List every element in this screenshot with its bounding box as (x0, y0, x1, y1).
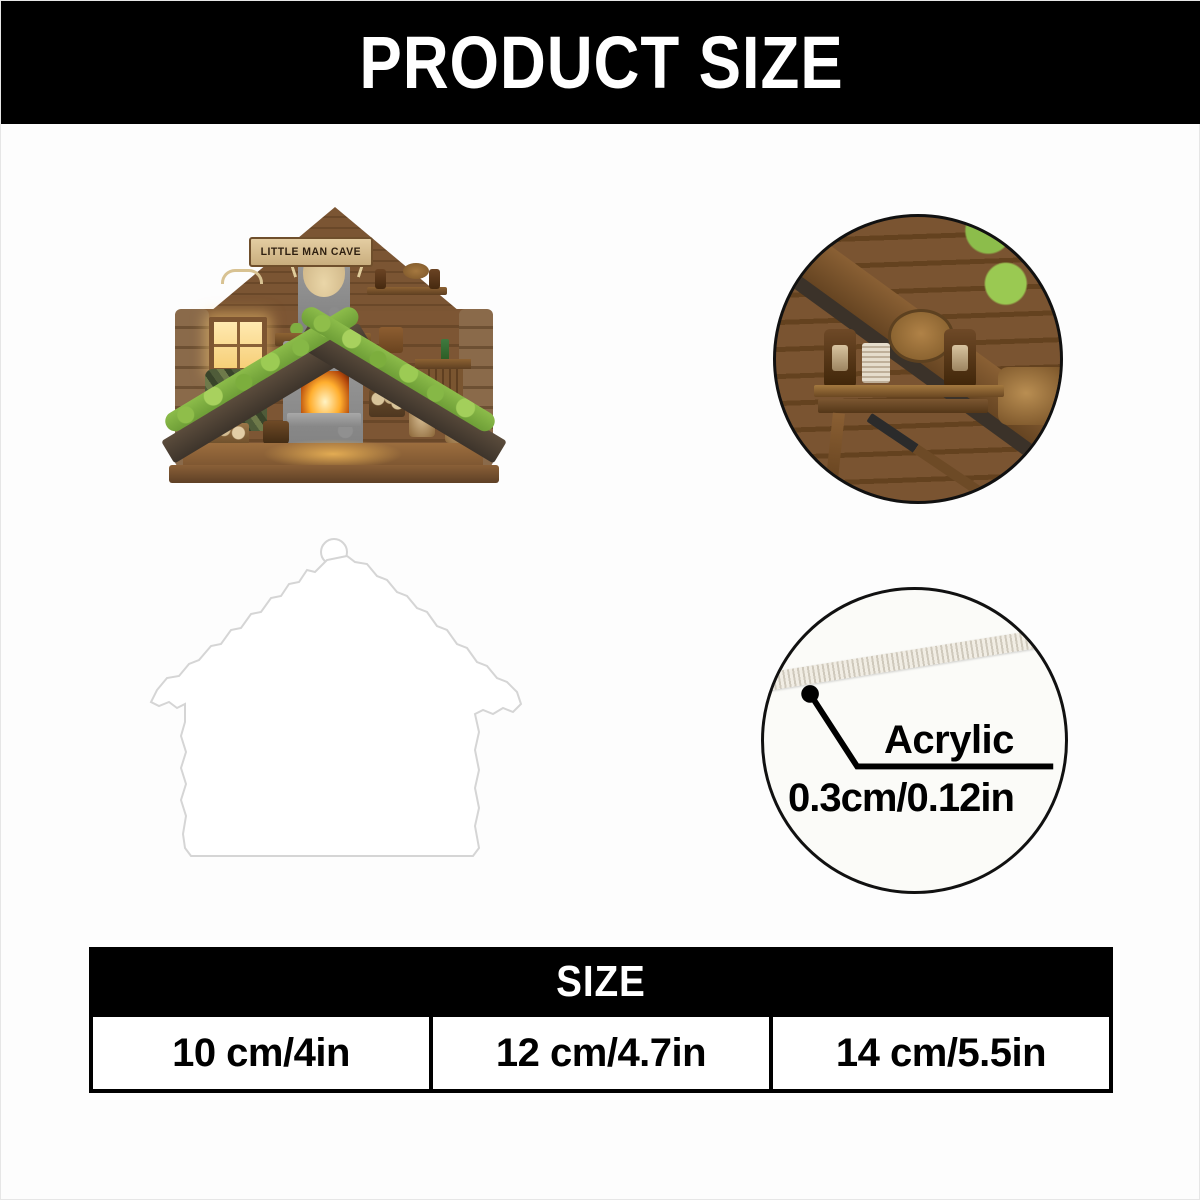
detail-rifle (866, 413, 988, 500)
fireplace-hearth (287, 413, 361, 427)
cabin-sign: LITTLE MAN CAVE (249, 237, 373, 267)
wall-antler-decor (221, 269, 263, 284)
acrylic-material-label: Acrylic (884, 718, 1014, 763)
detail-zoom-circle (773, 214, 1063, 504)
acrylic-thickness-circle: Acrylic 0.3cm/0.12in (761, 587, 1068, 894)
cabin-blank-body (151, 556, 521, 856)
blank-outline-svg (141, 526, 531, 896)
detail-mug (862, 343, 890, 383)
size-table: SIZE 10 cm/4in 12 cm/4.7in 14 cm/5.5in (89, 947, 1113, 1093)
detail-lantern-glass-right (952, 345, 968, 371)
size-cell-medium: 12 cm/4.7in (433, 1017, 773, 1089)
size-cell-large: 14 cm/5.5in (773, 1017, 1113, 1089)
detail-tool-rack (818, 399, 988, 413)
detail-log-end (998, 367, 1063, 425)
detail-lantern-glass-left (832, 345, 848, 371)
cabin-base (169, 465, 499, 483)
detail-leather-strap (823, 413, 845, 504)
lantern-icon (375, 269, 386, 289)
hat-decor (403, 263, 429, 279)
product-photo: LITTLE MAN CAVE (153, 171, 515, 501)
size-cell-small: 10 cm/4in (93, 1017, 433, 1089)
header-bar: PRODUCT SIZE (1, 1, 1200, 124)
size-table-header: SIZE (89, 947, 1113, 1017)
log-cabin-illustration: LITTLE MAN CAVE (153, 171, 515, 501)
acrylic-thickness-label: 0.3cm/0.12in (788, 776, 1014, 821)
cabin-sign-text: LITTLE MAN CAVE (261, 246, 361, 258)
page-title: PRODUCT SIZE (359, 26, 843, 100)
product-size-infographic: PRODUCT SIZE (0, 0, 1200, 1200)
side-table-top (415, 359, 471, 369)
lantern-icon (429, 269, 440, 289)
detail-shelf (814, 385, 1004, 397)
size-table-row: 10 cm/4in 12 cm/4.7in 14 cm/5.5in (89, 1017, 1113, 1093)
acrylic-blank-outline (141, 526, 531, 896)
size-table-header-label: SIZE (556, 957, 646, 1007)
